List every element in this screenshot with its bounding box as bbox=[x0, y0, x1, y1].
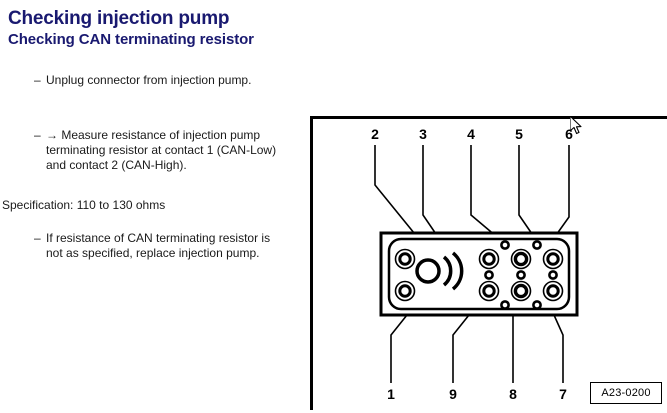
bullet-dash-icon: – bbox=[34, 128, 46, 143]
callout-numbers-bottom: 1 9 8 7 bbox=[387, 386, 567, 402]
small-dot-3 bbox=[485, 271, 492, 278]
pin-7 bbox=[544, 282, 563, 301]
step-replace-text: If resistance of CAN terminating resisto… bbox=[46, 231, 284, 261]
callout-label-8: 8 bbox=[509, 386, 517, 402]
bullet-dash-icon: – bbox=[34, 73, 46, 88]
callout-label-4: 4 bbox=[467, 126, 475, 142]
step-replace-pump: – If resistance of CAN terminating resis… bbox=[34, 231, 284, 261]
page-title: Checking injection pump bbox=[8, 8, 229, 30]
small-dot-1 bbox=[501, 241, 508, 248]
small-dot-7 bbox=[533, 301, 540, 308]
pin-8 bbox=[512, 282, 531, 301]
callout-label-2: 2 bbox=[371, 126, 379, 142]
callout-numbers-top: 2 3 4 5 6 bbox=[371, 126, 573, 142]
step-measure-text: → Measure resistance of injection pump t… bbox=[46, 128, 284, 173]
pin-2 bbox=[396, 250, 415, 269]
specification-line: Specification: 110 to 130 ohms bbox=[2, 198, 292, 213]
step-measure-resistance: – → Measure resistance of injection pump… bbox=[34, 128, 284, 173]
figure-id-box: A23-0200 bbox=[590, 382, 662, 404]
step-unplug-connector: – Unplug connector from injection pump. bbox=[34, 73, 294, 88]
connector-diagram: 2 3 4 5 6 1 9 8 7 bbox=[313, 119, 667, 413]
callout-label-1: 1 bbox=[387, 386, 395, 402]
small-dot-2 bbox=[533, 241, 540, 248]
bullet-dash-icon: – bbox=[34, 231, 46, 246]
figure-panel: 2 3 4 5 6 1 9 8 7 bbox=[310, 116, 667, 410]
leader-line-6 bbox=[549, 145, 569, 245]
pin-1 bbox=[396, 282, 415, 301]
callout-label-5: 5 bbox=[515, 126, 523, 142]
small-dot-6 bbox=[501, 301, 508, 308]
callout-label-6: 6 bbox=[565, 126, 573, 142]
leader-line-2 bbox=[375, 145, 423, 244]
small-dot-5 bbox=[549, 271, 556, 278]
pin-6 bbox=[544, 250, 563, 269]
callout-label-9: 9 bbox=[449, 386, 457, 402]
callout-label-3: 3 bbox=[419, 126, 427, 142]
page-subtitle: Checking CAN terminating resistor bbox=[8, 31, 254, 48]
small-dot-4 bbox=[517, 271, 524, 278]
pin-9 bbox=[480, 282, 499, 301]
pin-4 bbox=[480, 250, 499, 269]
step-unplug-text: Unplug connector from injection pump. bbox=[46, 73, 294, 88]
pin-5 bbox=[512, 250, 531, 269]
callout-label-7: 7 bbox=[559, 386, 567, 402]
